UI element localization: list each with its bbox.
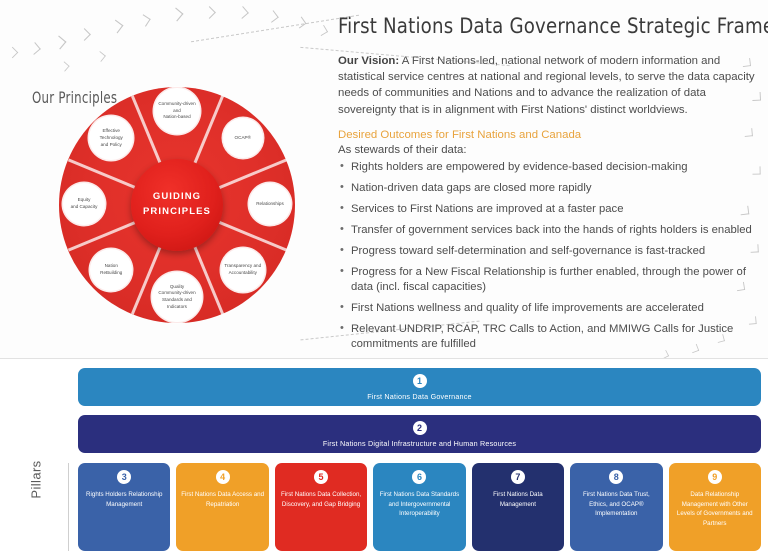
- petal-label-line: Nation: [100, 263, 122, 270]
- pillar-number: 3: [117, 470, 131, 484]
- petal-label-line: and Capacity: [71, 204, 98, 211]
- pillar-label: Rights Holders Relationship Management: [82, 490, 166, 509]
- pillar-card-7[interactable]: 7First Nations Data Management: [472, 463, 564, 551]
- band-number-1: 1: [413, 374, 427, 388]
- hub-line-2: PRINCIPLES: [143, 205, 211, 219]
- principle-petal: Community-drivenandNation-based: [154, 88, 200, 134]
- pillar-cards: 3Rights Holders Relationship Management4…: [78, 463, 761, 551]
- petal-label-line: Relationships: [256, 201, 284, 208]
- principle-petal: QualityCommunity-drivenStandards andIndi…: [152, 272, 202, 322]
- outcome-item: Services to First Nations are improved a…: [338, 202, 762, 217]
- petal-label-line: ReBuilding: [100, 270, 122, 277]
- principle-petal: Relationships: [249, 183, 291, 225]
- petal-label-line: Equity: [71, 197, 98, 204]
- band-data-governance: 1 First Nations Data Governance: [78, 368, 761, 406]
- principle-petal: Equityand Capacity: [63, 183, 105, 225]
- outcome-item: Nation-driven data gaps are closed more …: [338, 181, 762, 196]
- vision-statement: Our Vision: A First Nations-led, nationa…: [338, 53, 762, 118]
- petal-label-line: Nation-based: [158, 114, 195, 121]
- petal-label-line: Community-driven: [158, 101, 195, 108]
- pillars-divider: [68, 463, 69, 551]
- band-label-1: First Nations Data Governance: [367, 392, 471, 401]
- band-number-2: 2: [413, 421, 427, 435]
- pillar-number: 8: [609, 470, 623, 484]
- vision-body: A First Nations-led, national network of…: [338, 55, 755, 116]
- petal-label-line: and: [158, 108, 195, 115]
- petal-label-line: OCAP®: [235, 135, 251, 142]
- petal-label-line: and Policy: [100, 142, 123, 149]
- desired-outcomes-heading: Desired Outcomes for First Nations and C…: [338, 129, 762, 141]
- stewards-intro: As stewards of their data:: [338, 144, 762, 156]
- pillar-card-9[interactable]: 9Data Relationship Management with Other…: [669, 463, 761, 551]
- pillar-label: First Nations Data Access and Repatriati…: [180, 490, 264, 509]
- outcome-item: Rights holders are empowered by evidence…: [338, 160, 762, 175]
- hub-line-1: GUIDING: [153, 190, 201, 204]
- petal-label-line: Accountability: [224, 270, 261, 277]
- petal-label-line: Indicators: [158, 304, 195, 311]
- pillar-number: 6: [412, 470, 426, 484]
- vision-label: Our Vision:: [338, 55, 399, 67]
- petal-label-line: Transparency and: [224, 263, 261, 270]
- band-label-2: First Nations Digital Infrastructure and…: [323, 439, 516, 448]
- petal-label-line: Standards and: [158, 297, 195, 304]
- pillar-label: Data Relationship Management with Other …: [673, 490, 757, 528]
- petal-label-line: Effective: [100, 128, 123, 135]
- guiding-principles-hub: GUIDING PRINCIPLES: [131, 159, 223, 251]
- outcome-item: Progress for a New Fiscal Relationship i…: [338, 265, 762, 295]
- page-title: First Nations Data Governance Strategic …: [338, 14, 737, 39]
- pillar-label: First Nations Data Standards and Intergo…: [377, 490, 461, 519]
- pillar-card-4[interactable]: 4First Nations Data Access and Repatriat…: [176, 463, 268, 551]
- petal-label-line: Quality: [158, 284, 195, 291]
- principle-petal: OCAP®: [223, 118, 263, 158]
- band-digital-infrastructure: 2 First Nations Digital Infrastructure a…: [78, 415, 761, 453]
- outcome-item: First Nations wellness and quality of li…: [338, 301, 762, 316]
- guiding-principles-diagram: Our Principles Community-drivenandNation…: [0, 0, 330, 360]
- pillar-label: First Nations Data Management: [476, 490, 560, 509]
- framework-infographic: Our Principles Community-drivenandNation…: [0, 0, 768, 554]
- petal-label-line: Technology: [100, 135, 123, 142]
- pillar-number: 9: [708, 470, 722, 484]
- outcome-item: Transfer of government services back int…: [338, 223, 762, 238]
- framework-text-column: First Nations Data Governance Strategic …: [338, 14, 762, 358]
- pillar-card-3[interactable]: 3Rights Holders Relationship Management: [78, 463, 170, 551]
- pillar-number: 7: [511, 470, 525, 484]
- outcome-item: Relevant UNDRIP, RCAP, TRC Calls to Acti…: [338, 322, 762, 352]
- pillar-number: 5: [314, 470, 328, 484]
- pillar-label: First Nations Data Trust, Ethics, and OC…: [574, 490, 658, 519]
- petal-label-line: Community-driven: [158, 290, 195, 297]
- principles-rosette: Community-drivenandNation-basedOCAP®Rela…: [52, 72, 302, 337]
- desired-outcomes-list: Rights holders are empowered by evidence…: [338, 160, 762, 352]
- pillars-axis-label: Pillars: [29, 450, 44, 510]
- principle-petal: Transparency andAccountability: [221, 248, 265, 292]
- pillar-label: First Nations Data Collection, Discovery…: [279, 490, 363, 509]
- pillar-card-5[interactable]: 5First Nations Data Collection, Discover…: [275, 463, 367, 551]
- principle-petal: NationReBuilding: [90, 249, 132, 291]
- pillar-card-8[interactable]: 8First Nations Data Trust, Ethics, and O…: [570, 463, 662, 551]
- outcome-item: Progress toward self-determination and s…: [338, 244, 762, 259]
- pillar-number: 4: [216, 470, 230, 484]
- pillar-card-6[interactable]: 6First Nations Data Standards and Interg…: [373, 463, 465, 551]
